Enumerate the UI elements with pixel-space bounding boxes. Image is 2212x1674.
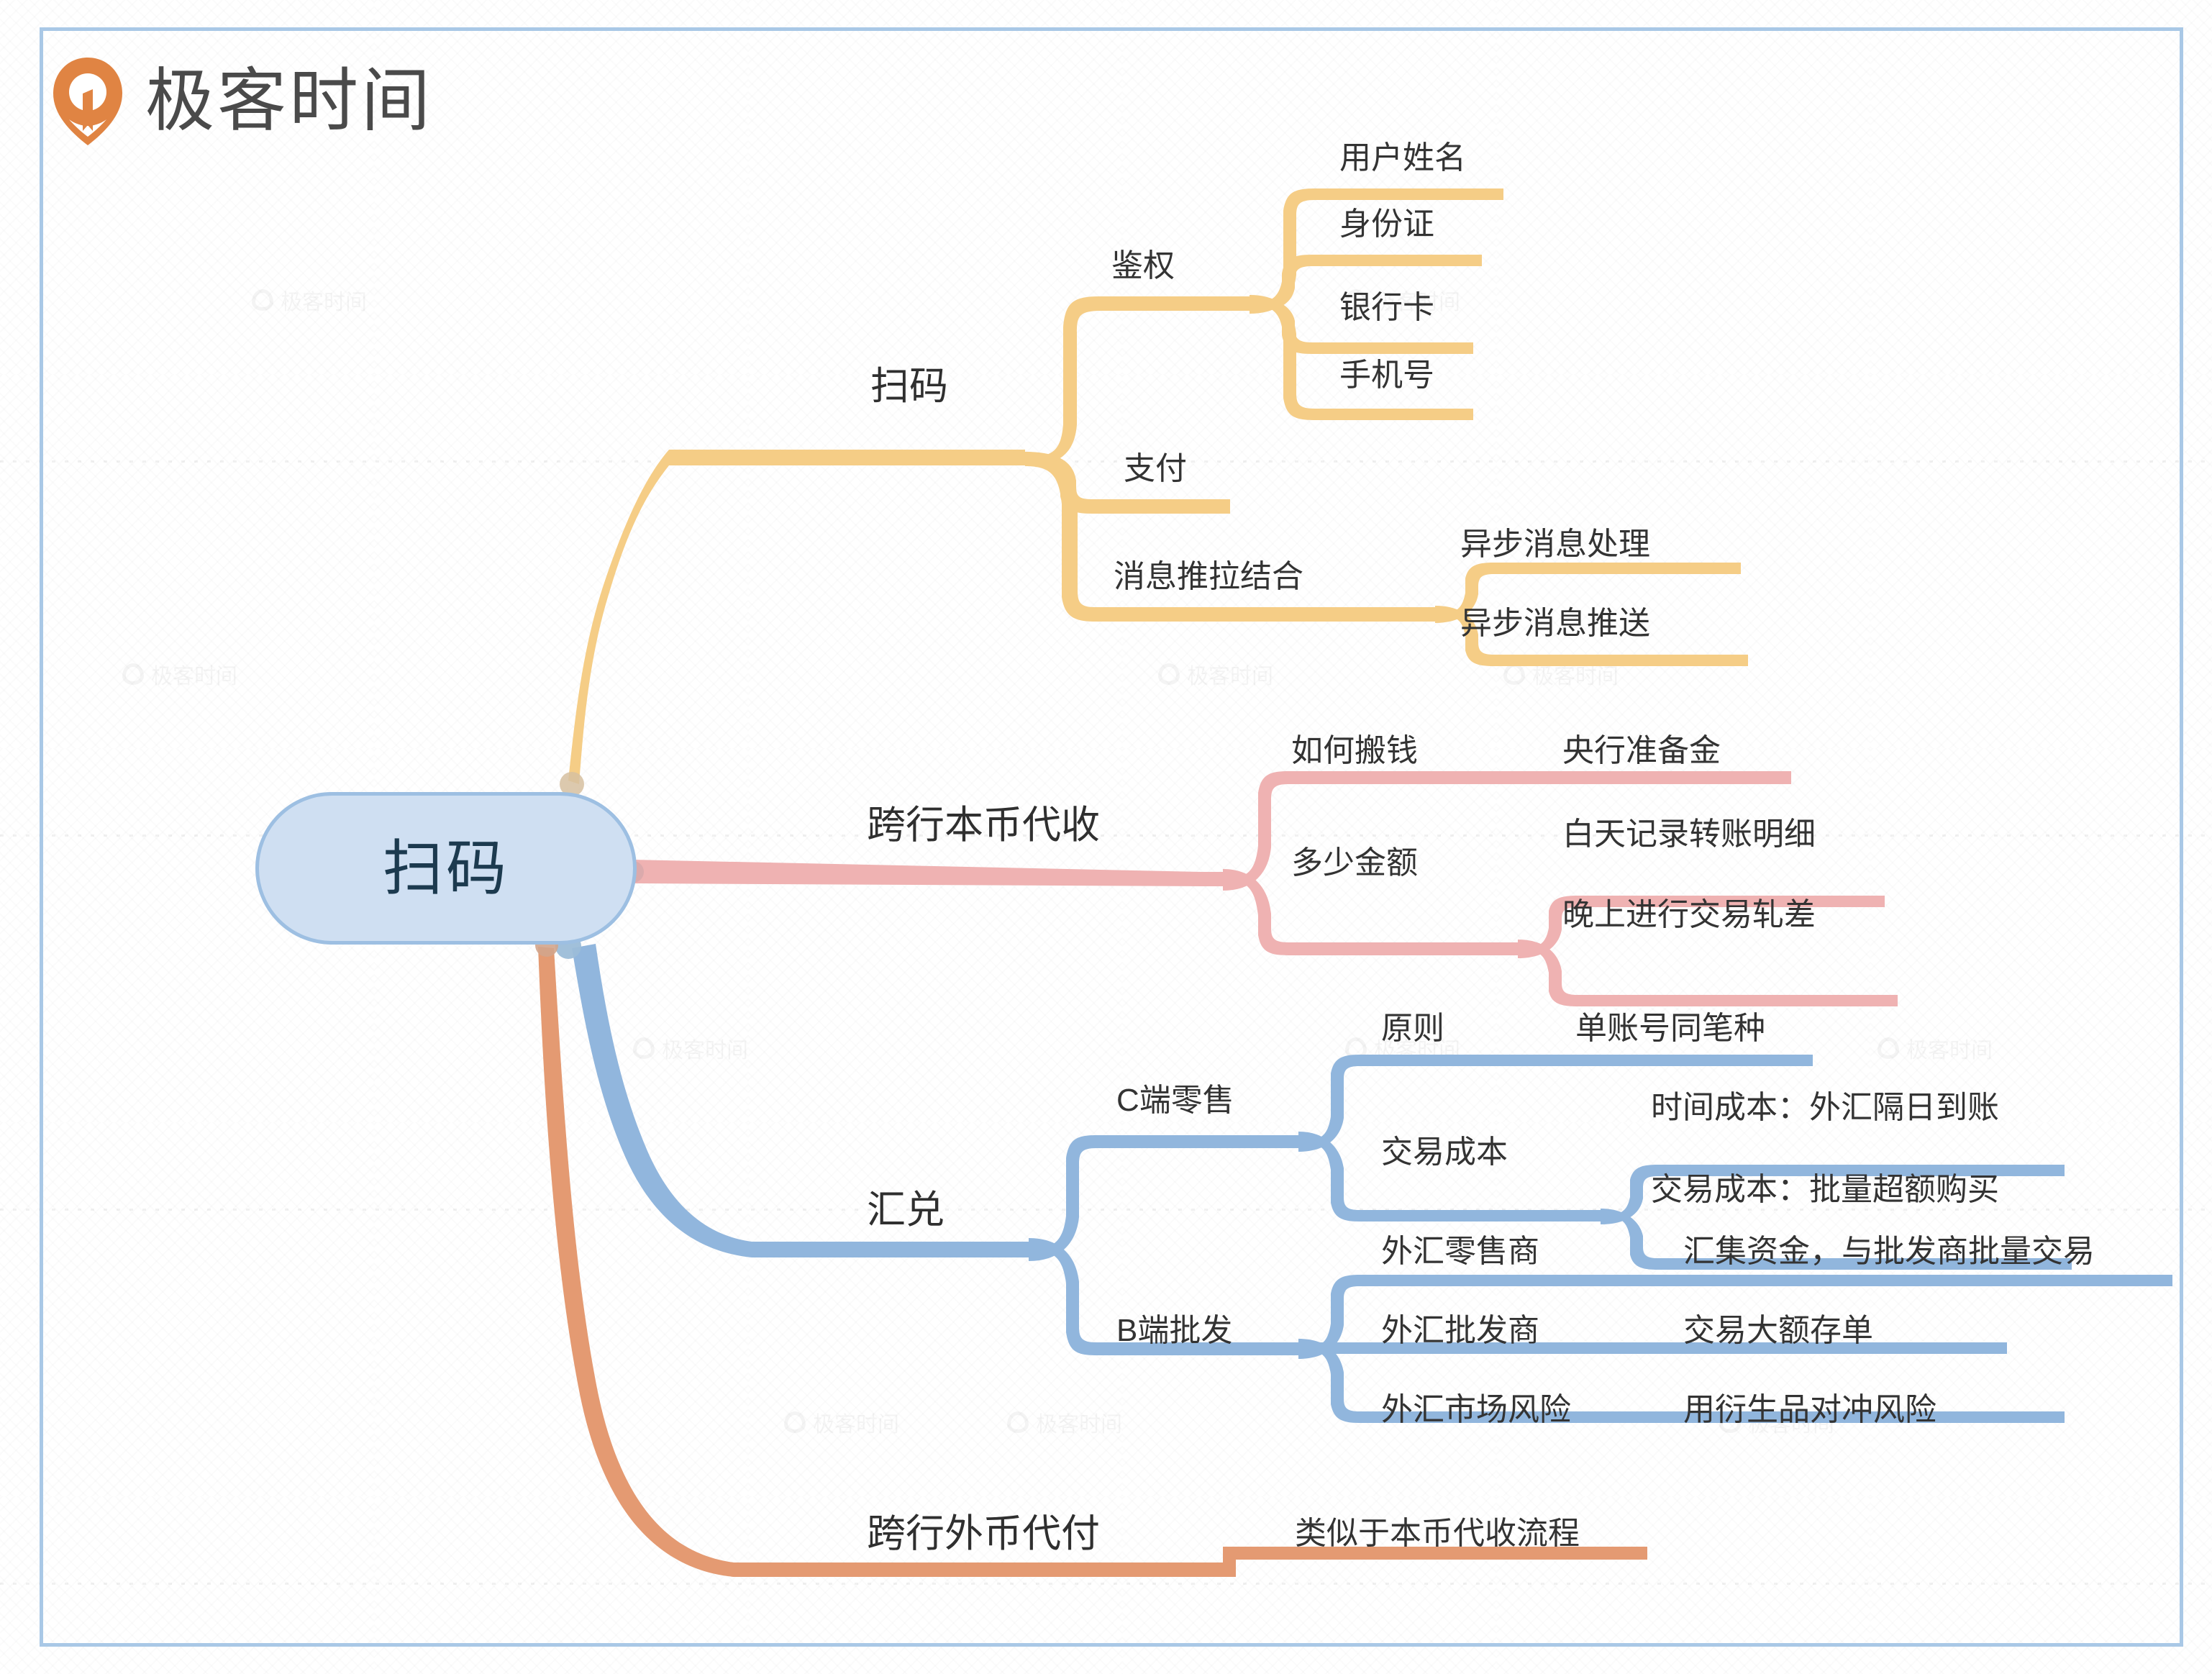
node-zhifu[interactable]: 支付: [1124, 453, 1187, 485]
node-yangxingzhunbeijin[interactable]: 央行准备金: [1562, 735, 1721, 767]
mindmap-page: 极客时间 极客时间 极客时间 极客时间 极客时间 极客时间 极客时间 极客时间 …: [0, 0, 2212, 1674]
node-duoshaojine[interactable]: 多少金额: [1291, 847, 1418, 879]
node-yibuchuli[interactable]: 异步消息处理: [1460, 529, 1650, 560]
node-jiaoyichengben[interactable]: 交易成本: [1381, 1137, 1508, 1168]
geektime-pin-logo-icon: [50, 56, 125, 147]
node-yibutuisong[interactable]: 异步消息推送: [1460, 608, 1650, 640]
root-node-label: 扫码: [383, 838, 509, 899]
node-saoma[interactable]: 扫码: [870, 367, 948, 406]
node-jianquan[interactable]: 鉴权: [1111, 250, 1175, 282]
brand-logo: 极客时间: [50, 56, 433, 147]
node-jiaoyidaecundan[interactable]: 交易大额存单: [1683, 1315, 1873, 1347]
node-xiaoxituila[interactable]: 消息推拉结合: [1114, 561, 1303, 593]
node-yongyanshengpin[interactable]: 用衍生品对冲风险: [1683, 1394, 1936, 1426]
node-bduanpifa[interactable]: B端批发: [1116, 1315, 1232, 1347]
node-waihuishichangfengxian[interactable]: 外汇市场风险: [1381, 1394, 1571, 1426]
node-yuanze[interactable]: 原则: [1381, 1013, 1444, 1045]
node-kuahang-waibi[interactable]: 跨行外币代付: [867, 1514, 1100, 1553]
root-node[interactable]: 扫码: [255, 792, 637, 945]
node-waihuipifashang[interactable]: 外汇批发商: [1381, 1315, 1539, 1347]
node-wanshangzhacha[interactable]: 晚上进行交易轧差: [1562, 899, 1816, 931]
node-kuahang-benbi[interactable]: 跨行本币代收: [867, 806, 1100, 845]
node-yinhangka[interactable]: 银行卡: [1339, 292, 1434, 324]
node-leisiyu[interactable]: 类似于本币代收流程: [1295, 1518, 1580, 1550]
node-shijianchengben[interactable]: 时间成本：外汇隔日到账: [1651, 1092, 1999, 1124]
node-huijizijin[interactable]: 汇集资金，与批发商批量交易: [1683, 1236, 2095, 1268]
node-yonghuxingming[interactable]: 用户姓名: [1339, 142, 1466, 174]
node-huidui[interactable]: 汇兑: [867, 1191, 945, 1229]
node-danzhanghao[interactable]: 单账号同笔种: [1575, 1013, 1765, 1045]
node-shenfenzheng[interactable]: 身份证: [1339, 209, 1434, 240]
brand-name: 极客时间: [145, 67, 433, 136]
node-baitianjilu[interactable]: 白天记录转账明细: [1562, 819, 1816, 850]
node-shoujihao[interactable]: 手机号: [1339, 360, 1434, 391]
node-ruhebanqian[interactable]: 如何搬钱: [1291, 735, 1418, 767]
branch-kuahang-benbi: [622, 771, 1898, 1006]
node-cduanlingshou[interactable]: C端零售: [1116, 1085, 1234, 1116]
node-jiaoyichengben2[interactable]: 交易成本：批量超额购买: [1651, 1174, 1999, 1206]
node-waihuilingshoushang[interactable]: 外汇零售商: [1381, 1236, 1539, 1268]
